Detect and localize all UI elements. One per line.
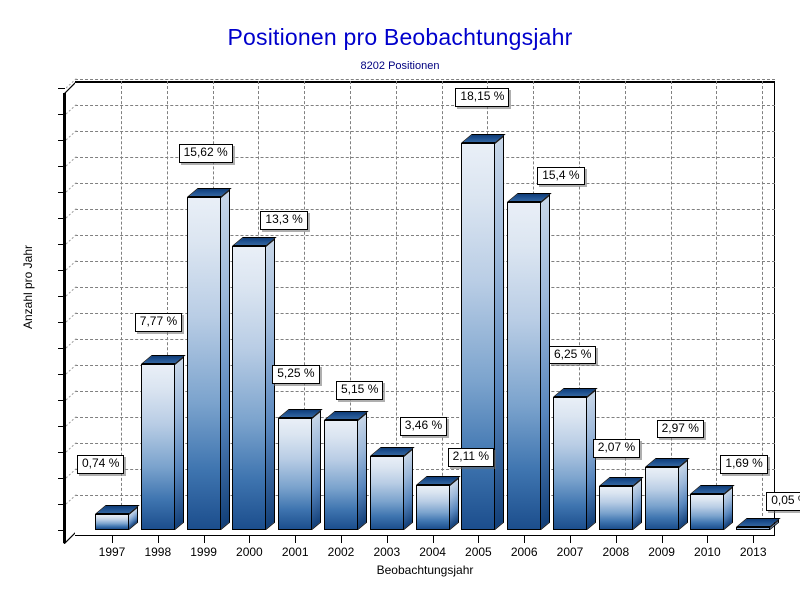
y-axis-depth-tick xyxy=(66,78,78,89)
bar-front-face xyxy=(416,485,450,530)
y-tick-mark xyxy=(58,192,65,193)
bar-data-label: 1,69 % xyxy=(720,455,767,474)
x-tick-mark xyxy=(249,536,250,543)
y-axis-depth-tick xyxy=(66,104,78,115)
y-axis-depth-tick xyxy=(66,130,78,141)
x-tick-mark xyxy=(616,536,617,543)
y-tick-mark xyxy=(58,322,65,323)
bar-front-face xyxy=(95,514,129,530)
bar-data-label: 5,15 % xyxy=(336,381,383,400)
y-axis-depth-tick xyxy=(66,416,78,427)
bar-side-face xyxy=(679,459,688,530)
x-tick-mark xyxy=(753,536,754,543)
bar-side-face xyxy=(312,410,321,530)
bar-side-face xyxy=(724,486,733,530)
bar-front-face xyxy=(599,486,633,530)
x-tick-mark xyxy=(524,536,525,543)
bar-front-face xyxy=(141,364,175,530)
y-tick-mark xyxy=(58,348,65,349)
x-tick-mark xyxy=(707,536,708,543)
bar-side-face xyxy=(450,477,459,530)
bar-front-face xyxy=(507,202,541,530)
bar-data-label: 2,07 % xyxy=(593,439,640,458)
y-axis-depth-tick xyxy=(66,442,78,453)
bar[interactable] xyxy=(232,81,275,530)
bar-data-label: 18,15 % xyxy=(455,88,509,107)
y-axis-title: Anzahl pro Jahr xyxy=(21,207,35,367)
bar-data-label: 15,4 % xyxy=(537,167,584,186)
bar-data-label: 2,11 % xyxy=(448,448,494,467)
x-tick-mark xyxy=(112,536,113,543)
x-tick-mark xyxy=(433,536,434,543)
y-tick-mark xyxy=(58,374,65,375)
y-tick-mark xyxy=(58,88,65,89)
y-axis-depth-tick xyxy=(66,156,78,167)
bar-front-face xyxy=(370,456,404,530)
y-tick-mark xyxy=(58,244,65,245)
x-tick-mark xyxy=(204,536,205,543)
bar-data-label: 3,46 % xyxy=(400,417,447,436)
x-tick-mark xyxy=(570,536,571,543)
y-tick-mark xyxy=(58,452,65,453)
bar-side-face xyxy=(404,449,413,530)
bar[interactable] xyxy=(370,81,413,530)
y-tick-mark xyxy=(58,140,65,141)
x-axis-title: Beobachtungsjahr xyxy=(75,563,775,577)
bar-front-face xyxy=(553,397,587,530)
y-tick-mark xyxy=(58,400,65,401)
bar[interactable] xyxy=(553,81,596,530)
bar-side-face xyxy=(358,413,367,530)
bar-data-label: 15,62 % xyxy=(179,144,233,163)
y-axis-depth-tick xyxy=(66,182,78,193)
bar-side-face xyxy=(633,478,642,530)
x-tick-mark xyxy=(662,536,663,543)
bar-front-face xyxy=(736,527,770,530)
plot-area: 0,74 %7,77 %15,62 %13,3 %5,25 %5,15 %3,4… xyxy=(75,81,775,536)
bar-data-label: 13,3 % xyxy=(260,211,307,230)
y-tick-mark xyxy=(58,504,65,505)
bar-data-label: 5,25 % xyxy=(272,365,319,384)
y-tick-mark xyxy=(58,270,65,271)
y-axis-depth-tick xyxy=(66,468,78,479)
bar-data-label: 0,74 % xyxy=(77,455,124,474)
bar[interactable] xyxy=(278,81,321,530)
y-tick-mark xyxy=(58,296,65,297)
x-tick-mark xyxy=(478,536,479,543)
x-tick-label: 2013 xyxy=(723,545,783,559)
bar-side-face xyxy=(266,239,275,530)
y-tick-mark xyxy=(58,426,65,427)
bar[interactable] xyxy=(141,81,184,530)
bar[interactable] xyxy=(507,81,550,530)
bar-front-face xyxy=(278,418,312,530)
x-tick-mark xyxy=(158,536,159,543)
chart-subtitle: 8202 Positionen xyxy=(0,60,800,72)
bar-front-face xyxy=(232,246,266,530)
bar-front-face xyxy=(461,143,495,530)
y-axis-depth-tick xyxy=(66,312,78,323)
bar-data-label: 7,77 % xyxy=(135,313,182,332)
y-tick-mark xyxy=(58,478,65,479)
y-axis-depth-tick xyxy=(66,494,78,505)
y-axis-depth-tick xyxy=(66,260,78,271)
y-axis-depth-tick xyxy=(66,364,78,375)
x-tick-mark xyxy=(295,536,296,543)
x-tick-mark xyxy=(341,536,342,543)
bar[interactable] xyxy=(645,81,688,530)
y-tick-mark xyxy=(58,114,65,115)
bar-side-face xyxy=(175,357,184,530)
bar-data-label: 0,05 % xyxy=(766,492,800,511)
bar-data-label: 6,25 % xyxy=(549,346,596,365)
bar[interactable] xyxy=(324,81,367,530)
bar-side-face xyxy=(495,135,504,530)
bar-side-face xyxy=(221,189,230,530)
chart-title: Positionen pro Beobachtungsjahr xyxy=(0,24,800,51)
bar-front-face xyxy=(690,494,724,530)
y-axis-depth-tick xyxy=(66,286,78,297)
gridline-horizontal xyxy=(75,79,775,80)
y-tick-mark xyxy=(58,530,65,531)
bar-front-face xyxy=(324,420,358,530)
y-axis-depth-tick xyxy=(66,390,78,401)
bar-chart: Positionen pro Beobachtungsjahr 8202 Pos… xyxy=(0,0,800,600)
bar-data-label: 2,97 % xyxy=(657,420,704,439)
bar-front-face xyxy=(645,467,679,530)
bar[interactable] xyxy=(599,81,642,530)
y-axis-depth-tick xyxy=(66,234,78,245)
bar-front-face xyxy=(187,197,221,530)
bar-side-face xyxy=(587,389,596,530)
x-tick-mark xyxy=(387,536,388,543)
y-axis-depth-tick xyxy=(66,338,78,349)
y-tick-mark xyxy=(58,218,65,219)
y-axis-depth-tick xyxy=(66,208,78,219)
y-tick-mark xyxy=(58,166,65,167)
